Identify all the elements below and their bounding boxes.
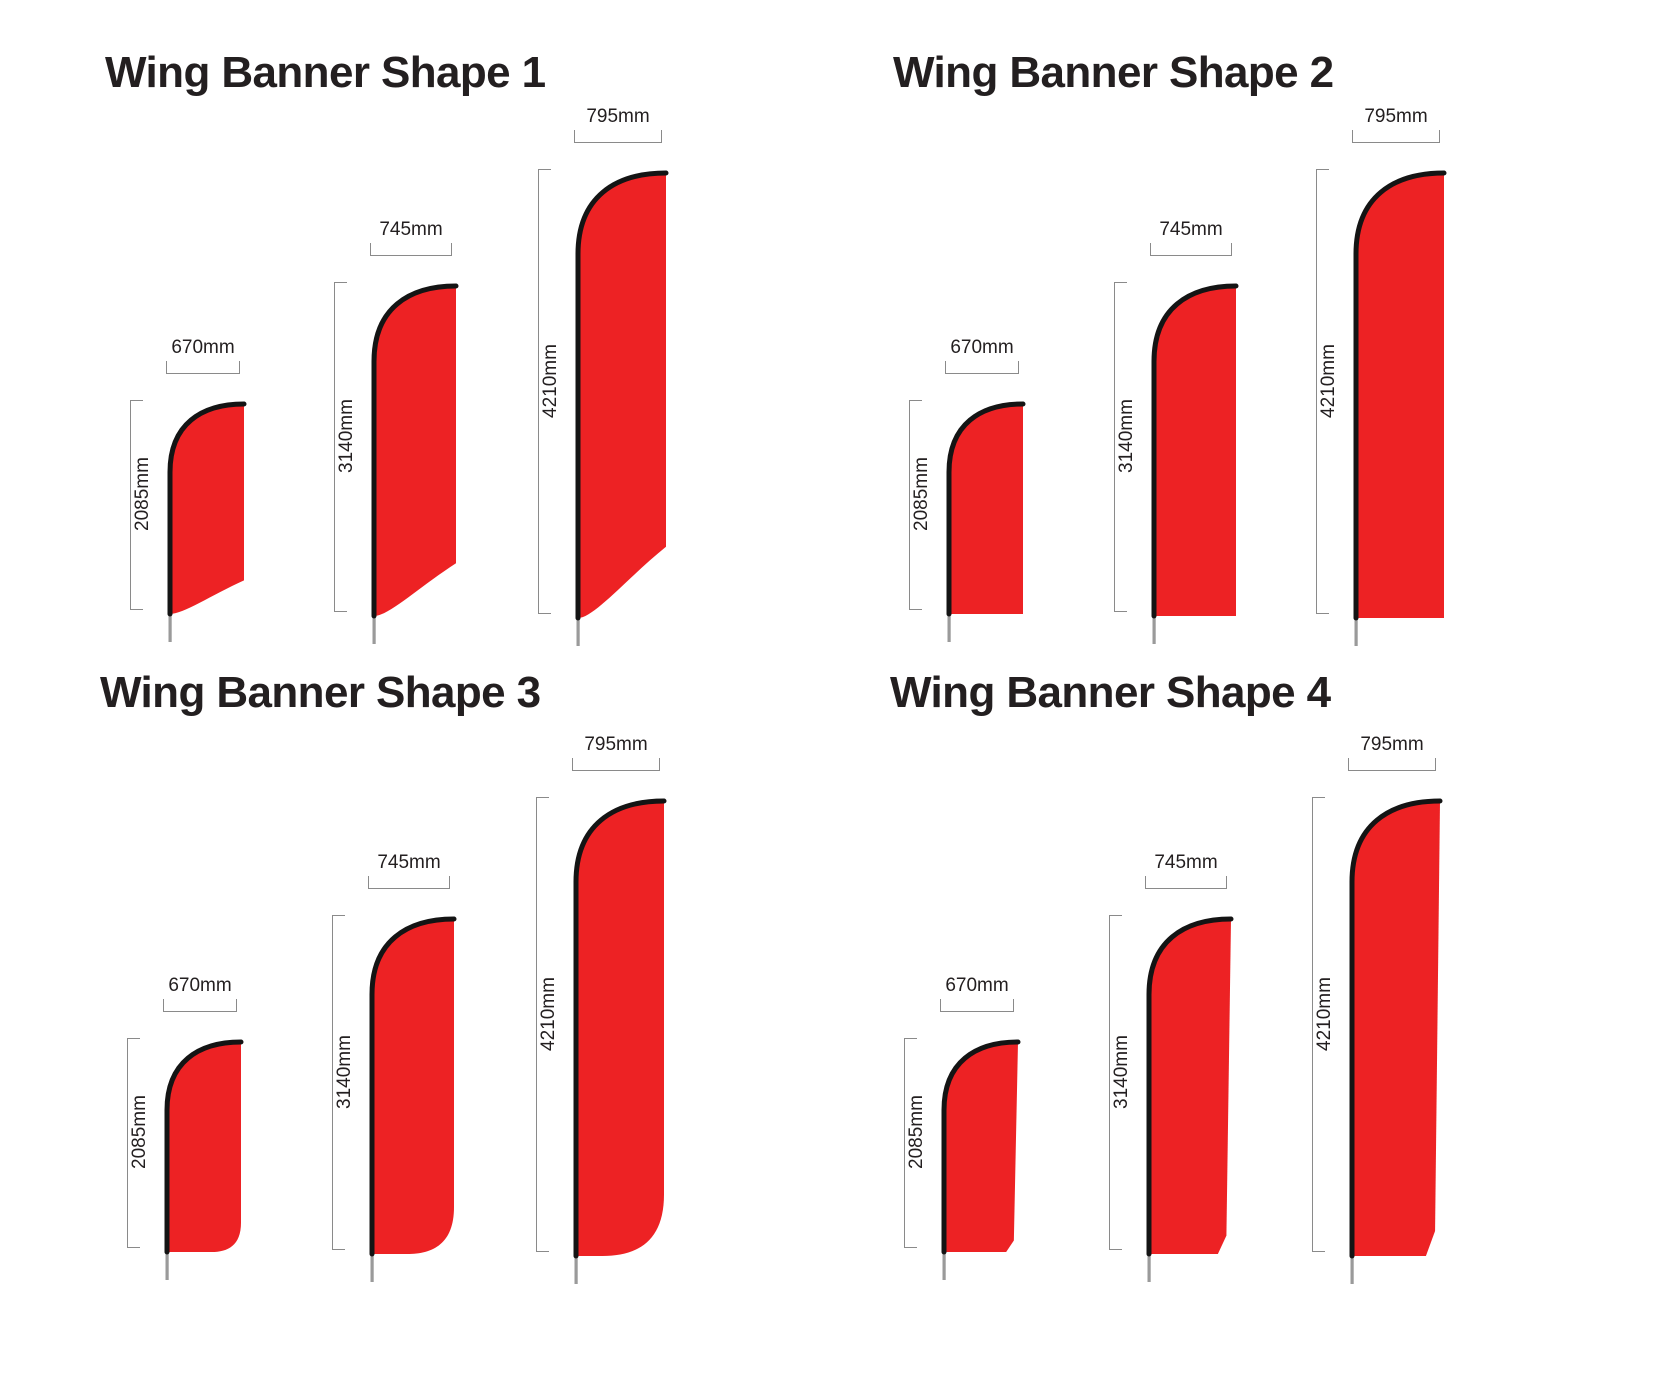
width-dimension-shape-3-large: 795mm: [572, 757, 660, 771]
dimension-line: [1316, 169, 1317, 614]
dimension-tick-left: [166, 361, 167, 374]
dimension-tick-right: [449, 876, 450, 889]
dimension-tick-top: [127, 1038, 140, 1039]
panel-title-shape-1: Wing Banner Shape 1: [105, 48, 546, 98]
dimension-tick-bottom: [1109, 1249, 1122, 1250]
height-label: 3140mm: [336, 399, 358, 473]
dimension-tick-top: [1312, 797, 1325, 798]
dimension-tick-top: [1316, 169, 1329, 170]
dimension-tick-bottom: [130, 609, 143, 610]
width-dimension-shape-4-medium: 745mm: [1145, 875, 1227, 889]
dimension-line: [1348, 770, 1436, 771]
width-dimension-shape-3-small: 670mm: [163, 998, 237, 1012]
dimension-tick-left: [574, 130, 575, 143]
height-dimension-shape-1-large: 4210mm: [538, 169, 552, 614]
dimension-tick-right: [236, 999, 237, 1012]
height-dimension-shape-4-small: 2085mm: [904, 1038, 918, 1248]
height-label: 2085mm: [911, 457, 933, 531]
height-dimension-shape-4-large: 4210mm: [1312, 797, 1326, 1252]
dimension-tick-left: [1150, 243, 1151, 256]
dimension-tick-top: [332, 915, 345, 916]
dimension-tick-bottom: [127, 1247, 140, 1248]
width-label: 670mm: [950, 337, 1013, 359]
dimension-tick-bottom: [904, 1247, 917, 1248]
flag-graphic-shape-1-medium: [370, 282, 460, 650]
dimension-line: [940, 1011, 1014, 1012]
flag-shape-1-medium: [370, 282, 456, 646]
dimension-line: [166, 373, 240, 374]
flag-shape-4-large: [1348, 797, 1440, 1286]
height-dimension-shape-3-medium: 3140mm: [332, 915, 346, 1250]
height-dimension-shape-3-large: 4210mm: [536, 797, 550, 1252]
panel-title-shape-3: Wing Banner Shape 3: [100, 668, 541, 718]
width-dimension-shape-4-small: 670mm: [940, 998, 1014, 1012]
dimension-line: [368, 888, 450, 889]
width-label: 745mm: [379, 219, 442, 241]
dimension-line: [332, 915, 333, 1250]
width-dimension-shape-1-large: 795mm: [574, 129, 662, 143]
height-dimension-shape-1-small: 2085mm: [130, 400, 144, 610]
height-label: 4210mm: [538, 977, 560, 1051]
height-label: 3140mm: [334, 1035, 356, 1109]
flag-graphic-shape-2-large: [1352, 169, 1448, 652]
flag-body: [1154, 286, 1236, 616]
flag-shape-4-medium: [1145, 915, 1231, 1284]
dimension-line: [536, 797, 537, 1252]
flag-body: [578, 173, 666, 618]
banner-shapes-sheet: Wing Banner Shape 1670mm2085mm745mm3140m…: [0, 0, 1654, 1375]
flag-shape-1-small: [166, 400, 244, 644]
flag-graphic-shape-3-medium: [368, 915, 458, 1288]
dimension-tick-bottom: [1316, 613, 1329, 614]
width-dimension-shape-3-medium: 745mm: [368, 875, 450, 889]
dimension-tick-left: [572, 758, 573, 771]
flag-graphic-shape-4-medium: [1145, 915, 1235, 1288]
flag-shape-4-small: [940, 1038, 1018, 1282]
flag-graphic-shape-4-small: [940, 1038, 1022, 1286]
flag-body: [576, 801, 664, 1256]
flag-shape-2-medium: [1150, 282, 1236, 646]
flag-body: [1149, 919, 1231, 1254]
dimension-tick-left: [945, 361, 946, 374]
flag-pole: [166, 1250, 169, 1280]
dimension-tick-left: [1348, 758, 1349, 771]
flag-graphic-shape-2-medium: [1150, 282, 1240, 650]
height-label: 4210mm: [1318, 344, 1340, 418]
dimension-line: [904, 1038, 905, 1248]
dimension-line: [1352, 142, 1440, 143]
dimension-line: [574, 142, 662, 143]
flag-graphic-shape-1-large: [574, 169, 670, 652]
flag-pole: [373, 614, 376, 644]
height-label: 2085mm: [906, 1095, 928, 1169]
flag-pole: [1148, 1252, 1151, 1282]
dimension-tick-right: [659, 758, 660, 771]
flag-graphic-shape-1-small: [166, 400, 248, 648]
dimension-line: [909, 400, 910, 610]
dimension-line: [1114, 282, 1115, 612]
height-label: 4210mm: [1314, 977, 1336, 1051]
width-label: 670mm: [945, 975, 1008, 997]
height-label: 2085mm: [129, 1095, 151, 1169]
flag-shape-1-large: [574, 169, 666, 648]
dimension-line: [1150, 255, 1232, 256]
width-dimension-shape-1-small: 670mm: [166, 360, 240, 374]
dimension-tick-top: [909, 400, 922, 401]
width-label: 795mm: [586, 106, 649, 128]
dimension-tick-right: [1231, 243, 1232, 256]
flag-pole: [575, 1254, 578, 1284]
flag-body: [372, 919, 454, 1254]
flag-shape-2-large: [1352, 169, 1444, 648]
dimension-tick-top: [334, 282, 347, 283]
dimension-tick-right: [1439, 130, 1440, 143]
height-label: 2085mm: [132, 457, 154, 531]
height-label: 3140mm: [1111, 1035, 1133, 1109]
height-label: 4210mm: [540, 344, 562, 418]
flag-shape-2-small: [945, 400, 1023, 644]
dimension-tick-bottom: [538, 613, 551, 614]
height-dimension-shape-4-medium: 3140mm: [1109, 915, 1123, 1250]
dimension-tick-bottom: [909, 609, 922, 610]
flag-pole: [1355, 616, 1358, 646]
dimension-tick-top: [536, 797, 549, 798]
width-label: 745mm: [1159, 219, 1222, 241]
dimension-tick-right: [1435, 758, 1436, 771]
dimension-tick-top: [904, 1038, 917, 1039]
flag-graphic-shape-2-small: [945, 400, 1027, 648]
width-dimension-shape-2-large: 795mm: [1352, 129, 1440, 143]
flag-pole: [371, 1252, 374, 1282]
flag-shape-3-medium: [368, 915, 454, 1284]
flag-pole: [169, 612, 172, 642]
height-dimension-shape-2-small: 2085mm: [909, 400, 923, 610]
flag-body: [374, 286, 456, 616]
dimension-tick-right: [661, 130, 662, 143]
dimension-tick-left: [368, 876, 369, 889]
dimension-tick-right: [1226, 876, 1227, 889]
dimension-tick-top: [538, 169, 551, 170]
dimension-tick-right: [1013, 999, 1014, 1012]
width-label: 795mm: [1360, 734, 1423, 756]
width-label: 795mm: [1364, 106, 1427, 128]
dimension-tick-right: [451, 243, 452, 256]
dimension-tick-left: [370, 243, 371, 256]
dimension-tick-left: [1352, 130, 1353, 143]
dimension-line: [163, 1011, 237, 1012]
flag-body: [1352, 801, 1440, 1256]
height-dimension-shape-3-small: 2085mm: [127, 1038, 141, 1248]
dimension-tick-right: [1018, 361, 1019, 374]
flag-graphic-shape-3-large: [572, 797, 668, 1290]
width-label: 670mm: [171, 337, 234, 359]
panel-title-shape-4: Wing Banner Shape 4: [890, 668, 1331, 718]
dimension-line: [334, 282, 335, 612]
flag-body: [1356, 173, 1444, 618]
flag-pole: [1153, 614, 1156, 644]
flag-shape-3-large: [572, 797, 664, 1286]
width-dimension-shape-4-large: 795mm: [1348, 757, 1436, 771]
dimension-line: [130, 400, 131, 610]
height-dimension-shape-1-medium: 3140mm: [334, 282, 348, 612]
dimension-tick-top: [1114, 282, 1127, 283]
width-label: 745mm: [1154, 852, 1217, 874]
dimension-tick-bottom: [332, 1249, 345, 1250]
dimension-line: [538, 169, 539, 614]
dimension-tick-left: [163, 999, 164, 1012]
dimension-tick-bottom: [334, 611, 347, 612]
width-dimension-shape-2-small: 670mm: [945, 360, 1019, 374]
dimension-line: [1109, 915, 1110, 1250]
dimension-tick-bottom: [1312, 1251, 1325, 1252]
flag-graphic-shape-4-large: [1348, 797, 1444, 1290]
dimension-line: [945, 373, 1019, 374]
dimension-line: [1145, 888, 1227, 889]
dimension-tick-left: [940, 999, 941, 1012]
flag-pole: [1351, 1254, 1354, 1284]
flag-pole: [943, 1250, 946, 1280]
dimension-line: [127, 1038, 128, 1248]
dimension-tick-bottom: [1114, 611, 1127, 612]
width-label: 745mm: [377, 852, 440, 874]
width-dimension-shape-1-medium: 745mm: [370, 242, 452, 256]
dimension-line: [370, 255, 452, 256]
dimension-tick-right: [239, 361, 240, 374]
dimension-line: [572, 770, 660, 771]
dimension-line: [1312, 797, 1313, 1252]
flag-pole: [948, 612, 951, 642]
width-label: 670mm: [168, 975, 231, 997]
panel-title-shape-2: Wing Banner Shape 2: [893, 48, 1334, 98]
dimension-tick-left: [1145, 876, 1146, 889]
dimension-tick-top: [1109, 915, 1122, 916]
dimension-tick-bottom: [536, 1251, 549, 1252]
flag-shape-3-small: [163, 1038, 241, 1282]
width-label: 795mm: [584, 734, 647, 756]
height-dimension-shape-2-large: 4210mm: [1316, 169, 1330, 614]
height-label: 3140mm: [1116, 399, 1138, 473]
flag-pole: [577, 616, 580, 646]
flag-graphic-shape-3-small: [163, 1038, 245, 1286]
width-dimension-shape-2-medium: 745mm: [1150, 242, 1232, 256]
dimension-tick-top: [130, 400, 143, 401]
height-dimension-shape-2-medium: 3140mm: [1114, 282, 1128, 612]
